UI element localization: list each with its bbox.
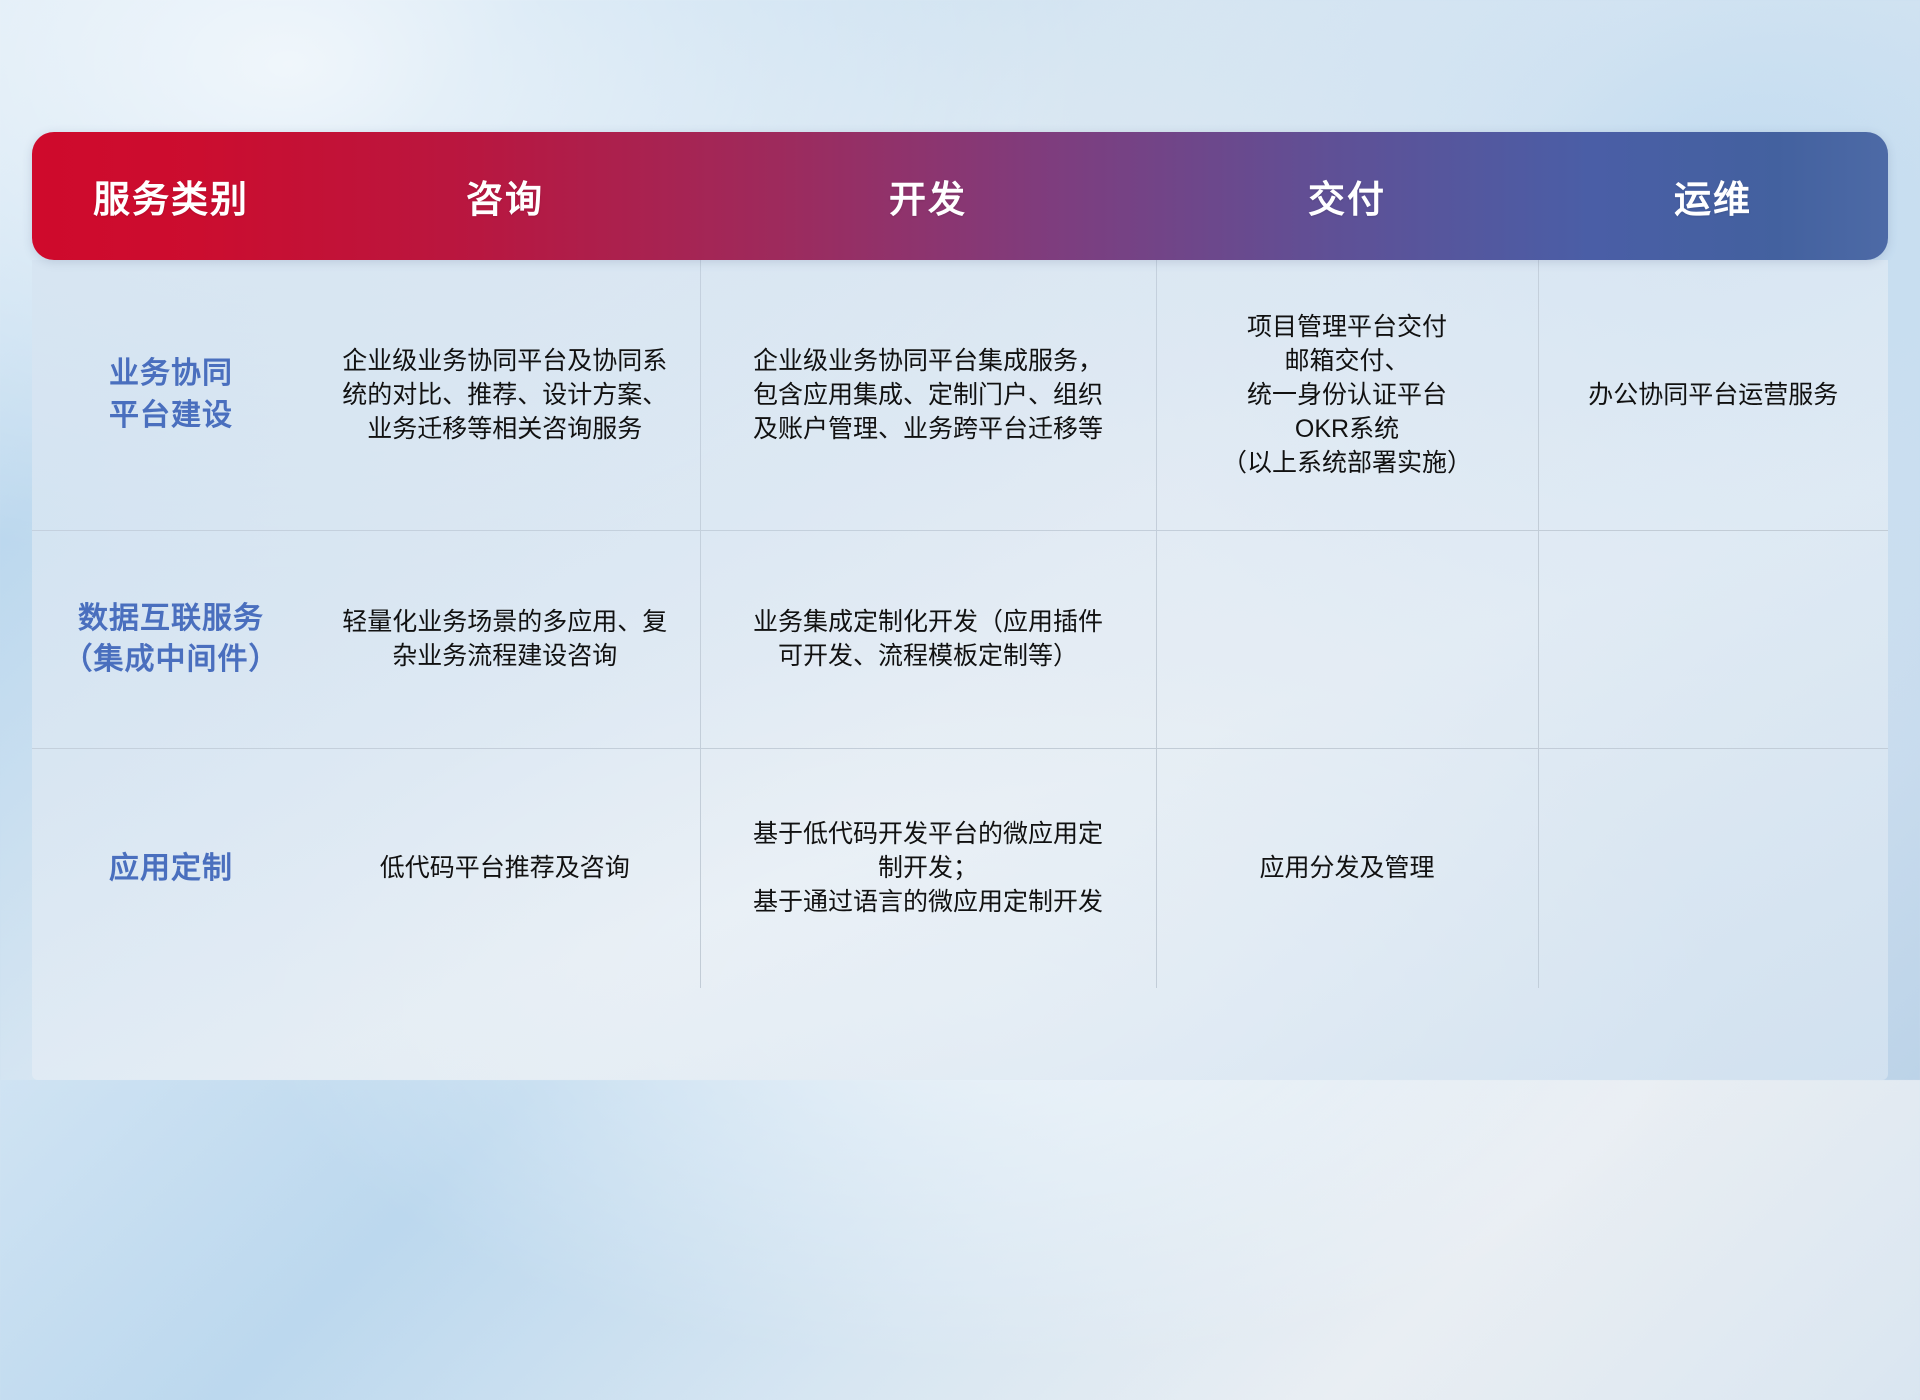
cell-delivery-row3: 应用分发及管理 <box>1156 748 1538 988</box>
column-header-development: 开发 <box>700 132 1156 260</box>
cell-operations-row2 <box>1538 530 1888 748</box>
cell-operations-row3 <box>1538 748 1888 988</box>
column-header-category: 服务类别 <box>32 132 310 260</box>
cell-development-row1: 企业级业务协同平台集成服务， 包含应用集成、定制门户、组织 及账户管理、业务跨平… <box>700 260 1156 530</box>
service-category-table: 服务类别 咨询 开发 交付 运维 业务协同 平台建设 企业级业务协同平台及协同系… <box>32 132 1888 988</box>
service-matrix: 服务类别 咨询 开发 交付 运维 业务协同 平台建设 企业级业务协同平台及协同系… <box>32 132 1888 952</box>
table-row: 应用定制 低代码平台推荐及咨询 基于低代码开发平台的微应用定 制开发； 基于通过… <box>32 748 1888 988</box>
row-label-app-customization: 应用定制 <box>32 748 310 988</box>
table-header-row: 服务类别 咨询 开发 交付 运维 <box>32 132 1888 260</box>
column-header-operations: 运维 <box>1538 132 1888 260</box>
cell-development-row2: 业务集成定制化开发（应用插件 可开发、流程模板定制等） <box>700 530 1156 748</box>
row-label-data-interconnect: 数据互联服务 （集成中间件） <box>32 530 310 748</box>
table-row: 业务协同 平台建设 企业级业务协同平台及协同系 统的对比、推荐、设计方案、 业务… <box>32 260 1888 530</box>
cell-development-row3: 基于低代码开发平台的微应用定 制开发； 基于通过语言的微应用定制开发 <box>700 748 1156 988</box>
cell-delivery-row2 <box>1156 530 1538 748</box>
cell-delivery-row1: 项目管理平台交付 邮箱交付、 统一身份认证平台 OKR系统 （以上系统部署实施） <box>1156 260 1538 530</box>
column-header-delivery: 交付 <box>1156 132 1538 260</box>
cell-operations-row1: 办公协同平台运营服务 <box>1538 260 1888 530</box>
cell-consulting-row3: 低代码平台推荐及咨询 <box>310 748 700 988</box>
column-header-consulting: 咨询 <box>310 132 700 260</box>
row-label-business-collaboration: 业务协同 平台建设 <box>32 260 310 530</box>
cell-consulting-row1: 企业级业务协同平台及协同系 统的对比、推荐、设计方案、 业务迁移等相关咨询服务 <box>310 260 700 530</box>
table-row: 数据互联服务 （集成中间件） 轻量化业务场景的多应用、复 杂业务流程建设咨询 业… <box>32 530 1888 748</box>
cell-consulting-row2: 轻量化业务场景的多应用、复 杂业务流程建设咨询 <box>310 530 700 748</box>
